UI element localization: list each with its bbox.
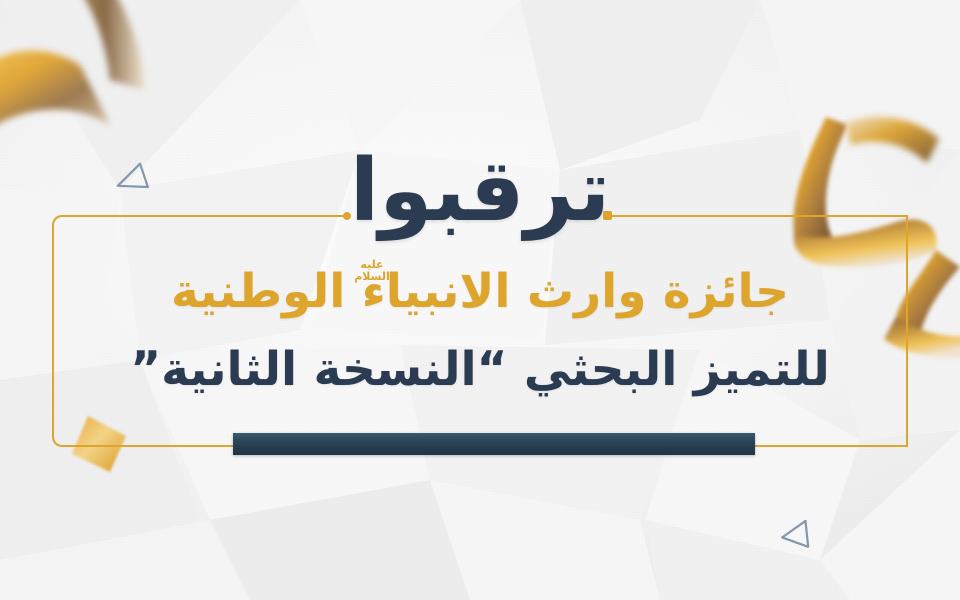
frame-edge-right (906, 215, 908, 447)
triangle-outline-icon (112, 158, 156, 198)
navy-underline-bar (233, 433, 755, 455)
frame-edge-left (52, 241, 54, 421)
ribbon-right-top-gold (835, 105, 955, 225)
frame-dot-left (343, 212, 351, 220)
ribbon-top-left-gold (0, 0, 210, 160)
frame-corner-top-left (52, 215, 80, 243)
frame-corner-bottom-left (52, 419, 80, 447)
gold-outline-frame (52, 215, 908, 447)
frame-edge-top-left-segment (78, 215, 348, 217)
frame-dot-right (603, 211, 612, 220)
triangle-outline-icon (774, 515, 820, 557)
frame-edge-top-right-segment (608, 215, 908, 217)
poster-canvas: ترقبوا جائزة وارث الانبياء الوطنية عليه … (0, 0, 960, 600)
